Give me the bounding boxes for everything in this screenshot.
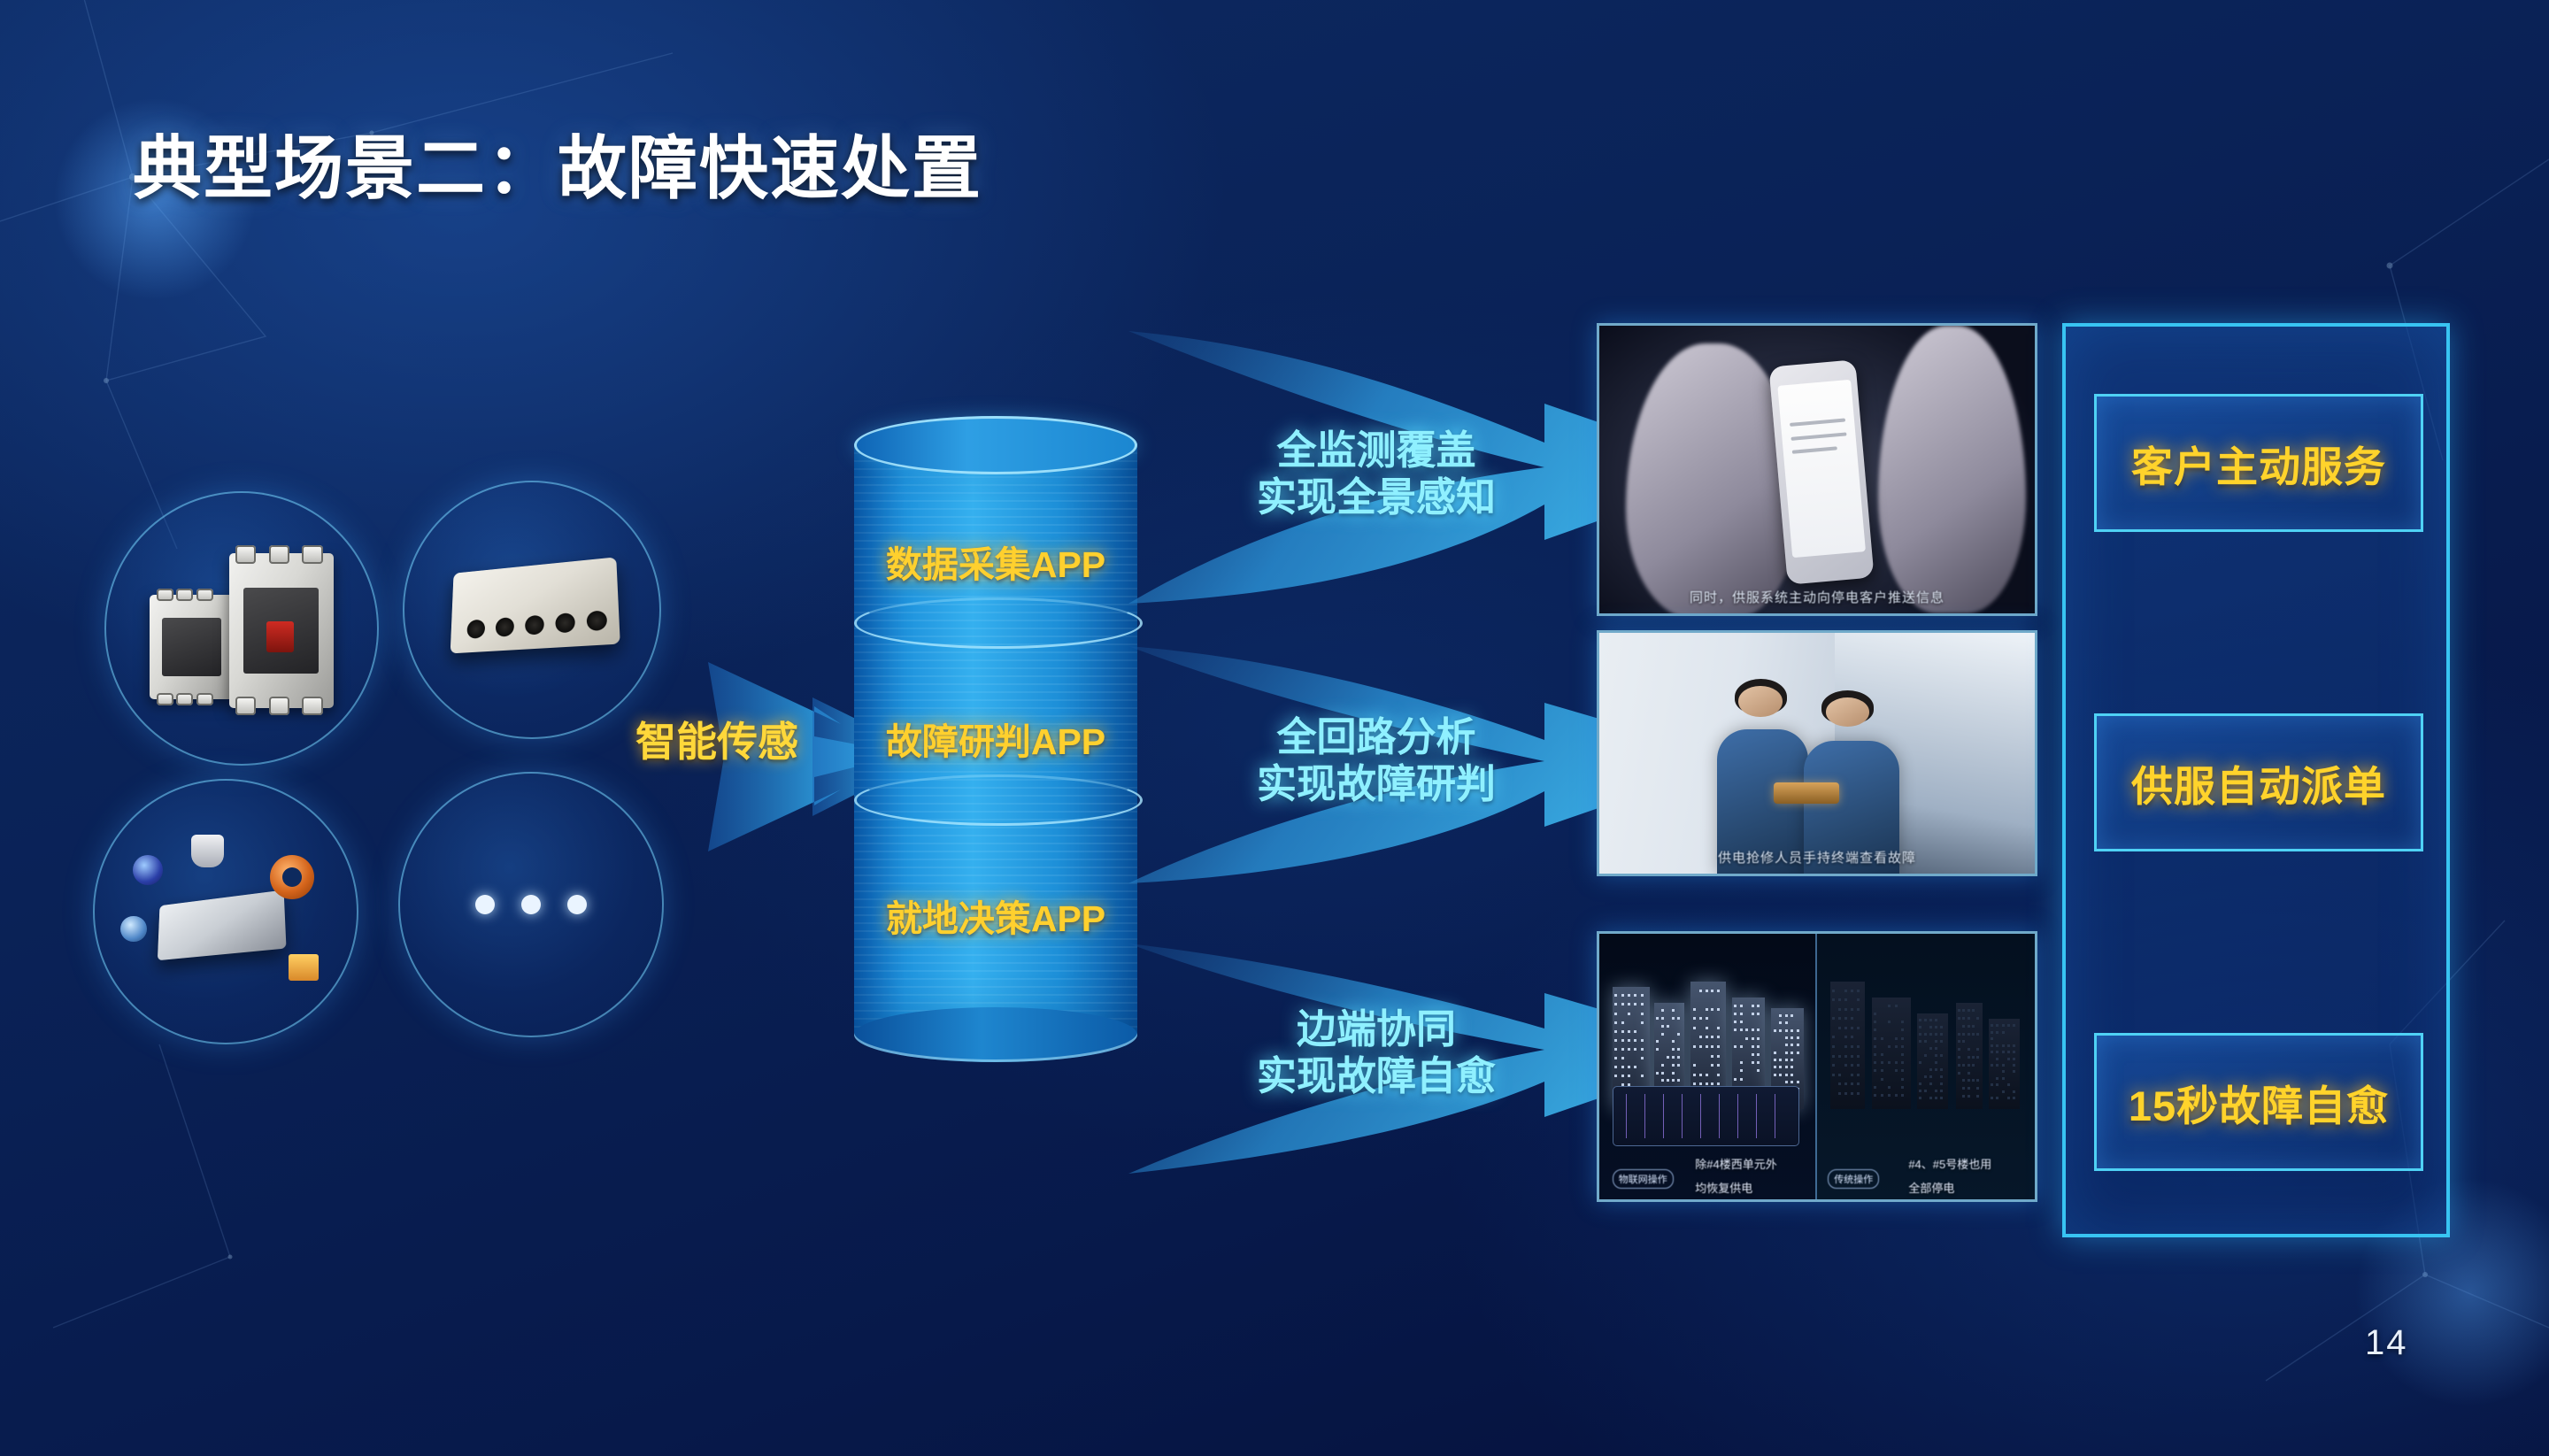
- slide-title: 典型场景二：故障快速处置: [133, 113, 982, 212]
- photo-3-right-half: 传统操作 #4、#5号楼也用 全部停电: [1815, 934, 2035, 1199]
- photo-3-right-caption-line2: 全部停电: [1908, 1182, 1954, 1197]
- field-technicians-photo: 供电抢修人员手持终端查看故障: [1597, 630, 2037, 876]
- phone-notification-photo: 同时，供服系统主动向停电客户推送信息: [1597, 323, 2037, 616]
- app-label-local-decision: 就地决策APP: [854, 889, 1137, 942]
- source-circle-terminal-block: [403, 481, 661, 739]
- slide-canvas: 典型场景二：故障快速处置: [0, 0, 2549, 1456]
- outcome-label-self-healing: 15秒故障自愈: [2129, 1072, 2389, 1133]
- outcome-box-self-healing: 15秒故障自愈: [2094, 1033, 2423, 1171]
- photo-3-left-half: 物联网操作 除#4楼西单元外 均恢复供电: [1599, 934, 1817, 1199]
- circuit-breakers-icon: [137, 524, 346, 733]
- source-circle-sensor-modules: [93, 779, 358, 1044]
- terminal-block-icon: [434, 512, 630, 708]
- photo-1-caption: 同时，供服系统主动向停电客户推送信息: [1599, 588, 2035, 606]
- cylinder-divider-1: [854, 597, 1143, 649]
- photo-3-left-caption-line1: 除#4楼西单元外: [1695, 1158, 1776, 1173]
- flow-text-3-line1: 边端协同: [1190, 1005, 1562, 1052]
- outcome-box-auto-dispatch: 供服自动派单: [2094, 713, 2423, 851]
- outcome-box-customer-service: 客户主动服务: [2094, 394, 2423, 532]
- intelligent-sensing-label: 智能传感: [635, 710, 798, 768]
- flow-text-1-line2: 实现全景感知: [1190, 474, 1562, 520]
- platform-cylinder: 数据采集APP 故障研判APP 就地决策APP: [854, 416, 1137, 1062]
- cylinder-divider-2: [854, 774, 1143, 826]
- photo-2-caption: 供电抢修人员手持终端查看故障: [1599, 848, 2035, 867]
- flow-text-2: 全回路分析 实现故障研判: [1190, 713, 1562, 807]
- ellipsis-icon: [475, 895, 587, 914]
- app-label-fault-analysis: 故障研判APP: [854, 712, 1137, 765]
- app-label-data-collection: 数据采集APP: [854, 535, 1137, 588]
- photo-3-right-badge: 传统操作: [1828, 1169, 1879, 1189]
- photo-3-left-caption-line2: 均恢复供电: [1695, 1182, 1752, 1197]
- outcome-label-customer-service: 客户主动服务: [2131, 433, 2386, 494]
- outcome-label-auto-dispatch: 供服自动派单: [2131, 752, 2386, 813]
- cylinder-bottom: [854, 1007, 1137, 1062]
- flow-text-2-line2: 实现故障研判: [1190, 760, 1562, 807]
- flow-text-3-line2: 实现故障自愈: [1190, 1052, 1562, 1099]
- flow-text-2-line1: 全回路分析: [1190, 713, 1562, 760]
- source-circle-circuit-breakers: [104, 491, 379, 766]
- outcomes-panel: 客户主动服务 供服自动派单 15秒故障自愈: [2062, 323, 2450, 1237]
- page-number: 14: [2365, 1323, 2408, 1363]
- source-circle-more-devices: [398, 772, 664, 1037]
- flow-text-1: 全监测覆盖 实现全景感知: [1190, 427, 1562, 520]
- flow-text-3: 边端协同 实现故障自愈: [1190, 1005, 1562, 1099]
- sensor-modules-icon: [125, 811, 327, 1013]
- photo-3-right-caption-line1: #4、#5号楼也用: [1908, 1158, 1991, 1173]
- photo-3-left-badge: 物联网操作: [1613, 1169, 1674, 1189]
- building-comparison-photo: 物联网操作 除#4楼西单元外 均恢复供电 传统操作 #4、#5号楼也用 全部停电: [1597, 931, 2037, 1202]
- flow-text-1-line1: 全监测覆盖: [1190, 427, 1562, 474]
- cylinder-top: [854, 416, 1137, 474]
